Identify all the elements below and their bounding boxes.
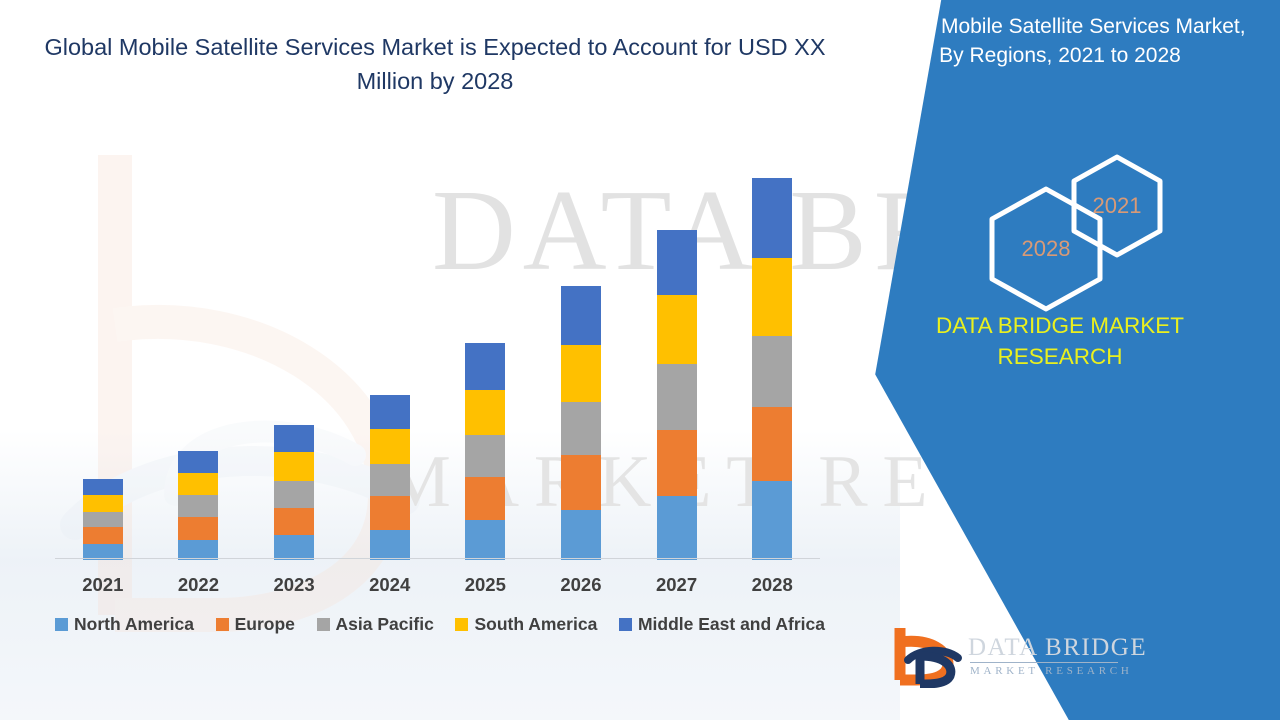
bar-segment[interactable]	[370, 395, 410, 429]
bar-segment[interactable]	[752, 258, 792, 336]
bar-segment[interactable]	[657, 295, 697, 365]
legend-label: North America	[74, 614, 194, 635]
chart-plot-area	[55, 150, 820, 560]
bar-segment[interactable]	[561, 345, 601, 402]
bar-segment[interactable]	[274, 481, 314, 508]
x-axis-tick-label: 2023	[246, 574, 342, 596]
bar-segment[interactable]	[752, 407, 792, 481]
bar-group	[629, 150, 725, 560]
legend-swatch-icon	[55, 618, 68, 631]
bar-segment[interactable]	[561, 455, 601, 509]
brand-name: DATA BRIDGE MARKET RESEARCH	[840, 310, 1280, 372]
legend-item[interactable]: Asia Pacific	[317, 614, 434, 635]
legend-label: Middle East and Africa	[638, 614, 825, 635]
x-axis-tick-label: 2021	[55, 574, 151, 596]
legend-swatch-icon	[317, 618, 330, 631]
bar-segment[interactable]	[752, 336, 792, 408]
dbmr-logo-wordmark: DATA BRIDGE	[968, 634, 1147, 662]
legend-swatch-icon	[455, 618, 468, 631]
chart-x-axis: 20212022202320242025202620272028	[55, 568, 820, 602]
legend-swatch-icon	[216, 618, 229, 631]
chart-baseline	[55, 558, 820, 559]
bar-segment[interactable]	[178, 473, 218, 496]
bar-group	[724, 150, 820, 560]
bar-segment[interactable]	[465, 343, 505, 390]
stacked-bar[interactable]	[561, 286, 601, 560]
dbmr-logo: DATA BRIDGE MARKET RESEARCH	[890, 622, 1120, 692]
bar-segment[interactable]	[178, 540, 218, 561]
bar-segment[interactable]	[465, 477, 505, 520]
legend-item[interactable]: Europe	[216, 614, 295, 635]
chart-legend: North AmericaEuropeAsia PacificSouth Ame…	[55, 614, 825, 635]
bar-group	[533, 150, 629, 560]
stacked-bar[interactable]	[657, 230, 697, 560]
bar-group	[151, 150, 247, 560]
x-axis-tick-label: 2025	[438, 574, 534, 596]
page-title: Global Mobile Satellite Services Market …	[40, 30, 830, 98]
bar-segment[interactable]	[561, 402, 601, 455]
bar-segment[interactable]	[752, 178, 792, 258]
bar-segment[interactable]	[465, 390, 505, 435]
stacked-bar[interactable]	[752, 178, 792, 560]
bar-segment[interactable]	[752, 481, 792, 560]
stacked-bar[interactable]	[370, 395, 410, 560]
hexagon-end-year: 2028	[987, 184, 1105, 314]
bar-group	[342, 150, 438, 560]
bar-segment[interactable]	[274, 535, 314, 560]
dbmr-logo-divider	[970, 662, 1118, 663]
stacked-bar[interactable]	[83, 479, 123, 560]
brand-line-1: DATA BRIDGE MARKET	[880, 310, 1240, 341]
legend-label: Europe	[235, 614, 295, 635]
hexagon-end-year-label: 2028	[1022, 236, 1071, 262]
bar-segment[interactable]	[657, 364, 697, 430]
bar-segment[interactable]	[274, 508, 314, 536]
bar-segment[interactable]	[370, 464, 410, 497]
bar-segment[interactable]	[657, 430, 697, 497]
bar-segment[interactable]	[83, 512, 123, 527]
bar-segment[interactable]	[561, 286, 601, 344]
stacked-bar[interactable]	[274, 425, 314, 560]
bar-group	[246, 150, 342, 560]
x-axis-tick-label: 2027	[629, 574, 725, 596]
x-axis-tick-label: 2028	[724, 574, 820, 596]
bar-segment[interactable]	[370, 496, 410, 530]
dbmr-logo-subtitle: MARKET RESEARCH	[970, 665, 1133, 677]
legend-item[interactable]: South America	[455, 614, 597, 635]
bar-segment[interactable]	[178, 495, 218, 517]
right-panel-title: Global Mobile Satellite Services Market,…	[840, 12, 1280, 70]
bar-segment[interactable]	[657, 496, 697, 560]
bar-segment[interactable]	[370, 530, 410, 560]
stacked-bar[interactable]	[178, 451, 218, 560]
x-axis-tick-label: 2026	[533, 574, 629, 596]
bar-segment[interactable]	[83, 495, 123, 511]
slide-root: DATA BRIDGE MARKET RESEARCH Global Mobil…	[0, 0, 1280, 720]
bar-segment[interactable]	[465, 435, 505, 477]
legend-item[interactable]: Middle East and Africa	[619, 614, 825, 635]
bar-segment[interactable]	[178, 517, 218, 540]
bar-group	[438, 150, 534, 560]
legend-swatch-icon	[619, 618, 632, 631]
stacked-bar[interactable]	[465, 343, 505, 560]
bar-segment[interactable]	[274, 425, 314, 453]
bar-segment[interactable]	[370, 429, 410, 464]
bar-segment[interactable]	[561, 510, 601, 560]
legend-item[interactable]: North America	[55, 614, 194, 635]
bar-segment[interactable]	[83, 527, 123, 543]
brand-line-2: RESEARCH	[880, 341, 1240, 372]
bar-segment[interactable]	[178, 451, 218, 473]
legend-label: Asia Pacific	[336, 614, 434, 635]
bar-segment[interactable]	[83, 479, 123, 495]
x-axis-tick-label: 2022	[151, 574, 247, 596]
bar-segment[interactable]	[274, 452, 314, 481]
chart-panel: DATA BRIDGE MARKET RESEARCH Global Mobil…	[0, 0, 980, 720]
bar-segment[interactable]	[465, 520, 505, 560]
legend-label: South America	[474, 614, 597, 635]
bar-segment[interactable]	[657, 230, 697, 295]
bar-group	[55, 150, 151, 560]
x-axis-tick-label: 2024	[342, 574, 438, 596]
dbmr-logo-icon	[890, 622, 964, 688]
